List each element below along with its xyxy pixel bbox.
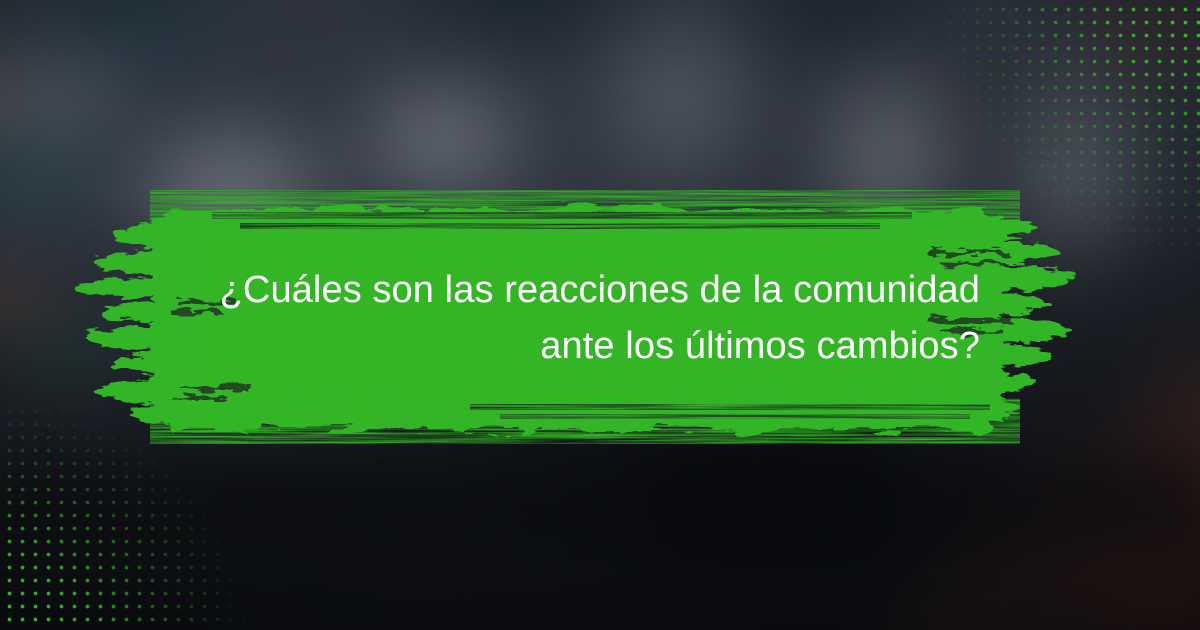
page-title: ¿Cuáles son las reacciones de la comunid… xyxy=(190,262,980,374)
social-share-card: ¿Cuáles son las reacciones de la comunid… xyxy=(0,0,1200,630)
